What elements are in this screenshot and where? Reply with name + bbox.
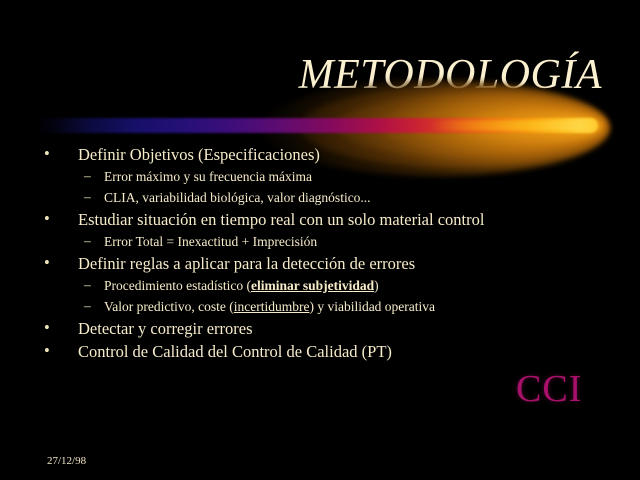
bullet-text: CLIA, variabilidad biológica, valor diag… <box>104 190 371 205</box>
bullet-item-level2: –Error máximo y su frecuencia máxima <box>0 166 640 187</box>
slide-body: •Definir Objetivos (Especificaciones)–Er… <box>0 143 640 363</box>
bullet-dash-icon: – <box>84 187 91 206</box>
bullet-item-level1: •Estudiar situación en tiempo real con u… <box>0 208 640 231</box>
bullet-text: Control de Calidad del Control de Calida… <box>78 342 392 361</box>
bullet-text: Estudiar situación en tiempo real con un… <box>78 210 484 229</box>
bullet-dot-icon: • <box>44 143 50 164</box>
bullet-dot-icon: • <box>44 252 50 273</box>
presentation-slide: METODOLOGÍA •Definir Objetivos (Especifi… <box>0 0 640 480</box>
bullet-item-level2: –Procedimiento estadístico (eliminar sub… <box>0 275 640 296</box>
bullet-text: Error Total = Inexactitud + Imprecisión <box>104 234 317 249</box>
bullet-text: Detectar y corregir errores <box>78 319 253 338</box>
bullet-item-level1: •Definir Objetivos (Especificaciones) <box>0 143 640 166</box>
bullet-dot-icon: • <box>44 317 50 338</box>
bullet-item-level2: –Error Total = Inexactitud + Imprecisión <box>0 231 640 252</box>
comet-core-highlight <box>430 120 596 131</box>
bullet-text: Definir Objetivos (Especificaciones) <box>78 145 320 164</box>
slide-title: METODOLOGÍA <box>299 54 602 96</box>
bullet-item-level2: –Valor predictivo, coste (incertidumbre)… <box>0 296 640 317</box>
bullet-item-level1: •Definir reglas a aplicar para la detecc… <box>0 252 640 275</box>
bullet-dash-icon: – <box>84 296 91 315</box>
bullet-item-level2: –CLIA, variabilidad biológica, valor dia… <box>0 187 640 208</box>
bullet-dash-icon: – <box>84 166 91 185</box>
bullet-dot-icon: • <box>44 340 50 361</box>
bullet-text: Valor predictivo, coste (incertidumbre) … <box>104 299 435 314</box>
bullet-item-level1: •Control de Calidad del Control de Calid… <box>0 340 640 363</box>
bullet-item-level1: •Detectar y corregir errores <box>0 317 640 340</box>
comet-halo-inner <box>414 110 600 142</box>
bullet-text: Definir reglas a aplicar para la detecci… <box>78 254 415 273</box>
cci-logo: CCI <box>516 370 582 408</box>
bullet-dot-icon: • <box>44 208 50 229</box>
date-stamp: 27/12/98 <box>47 456 86 467</box>
bullet-text: Error máximo y su frecuencia máxima <box>104 169 312 184</box>
comet-core-streak <box>34 118 598 133</box>
bullet-text: Procedimiento estadístico (eliminar subj… <box>104 278 379 293</box>
bullet-dash-icon: – <box>84 275 91 294</box>
bullet-dash-icon: – <box>84 231 91 250</box>
